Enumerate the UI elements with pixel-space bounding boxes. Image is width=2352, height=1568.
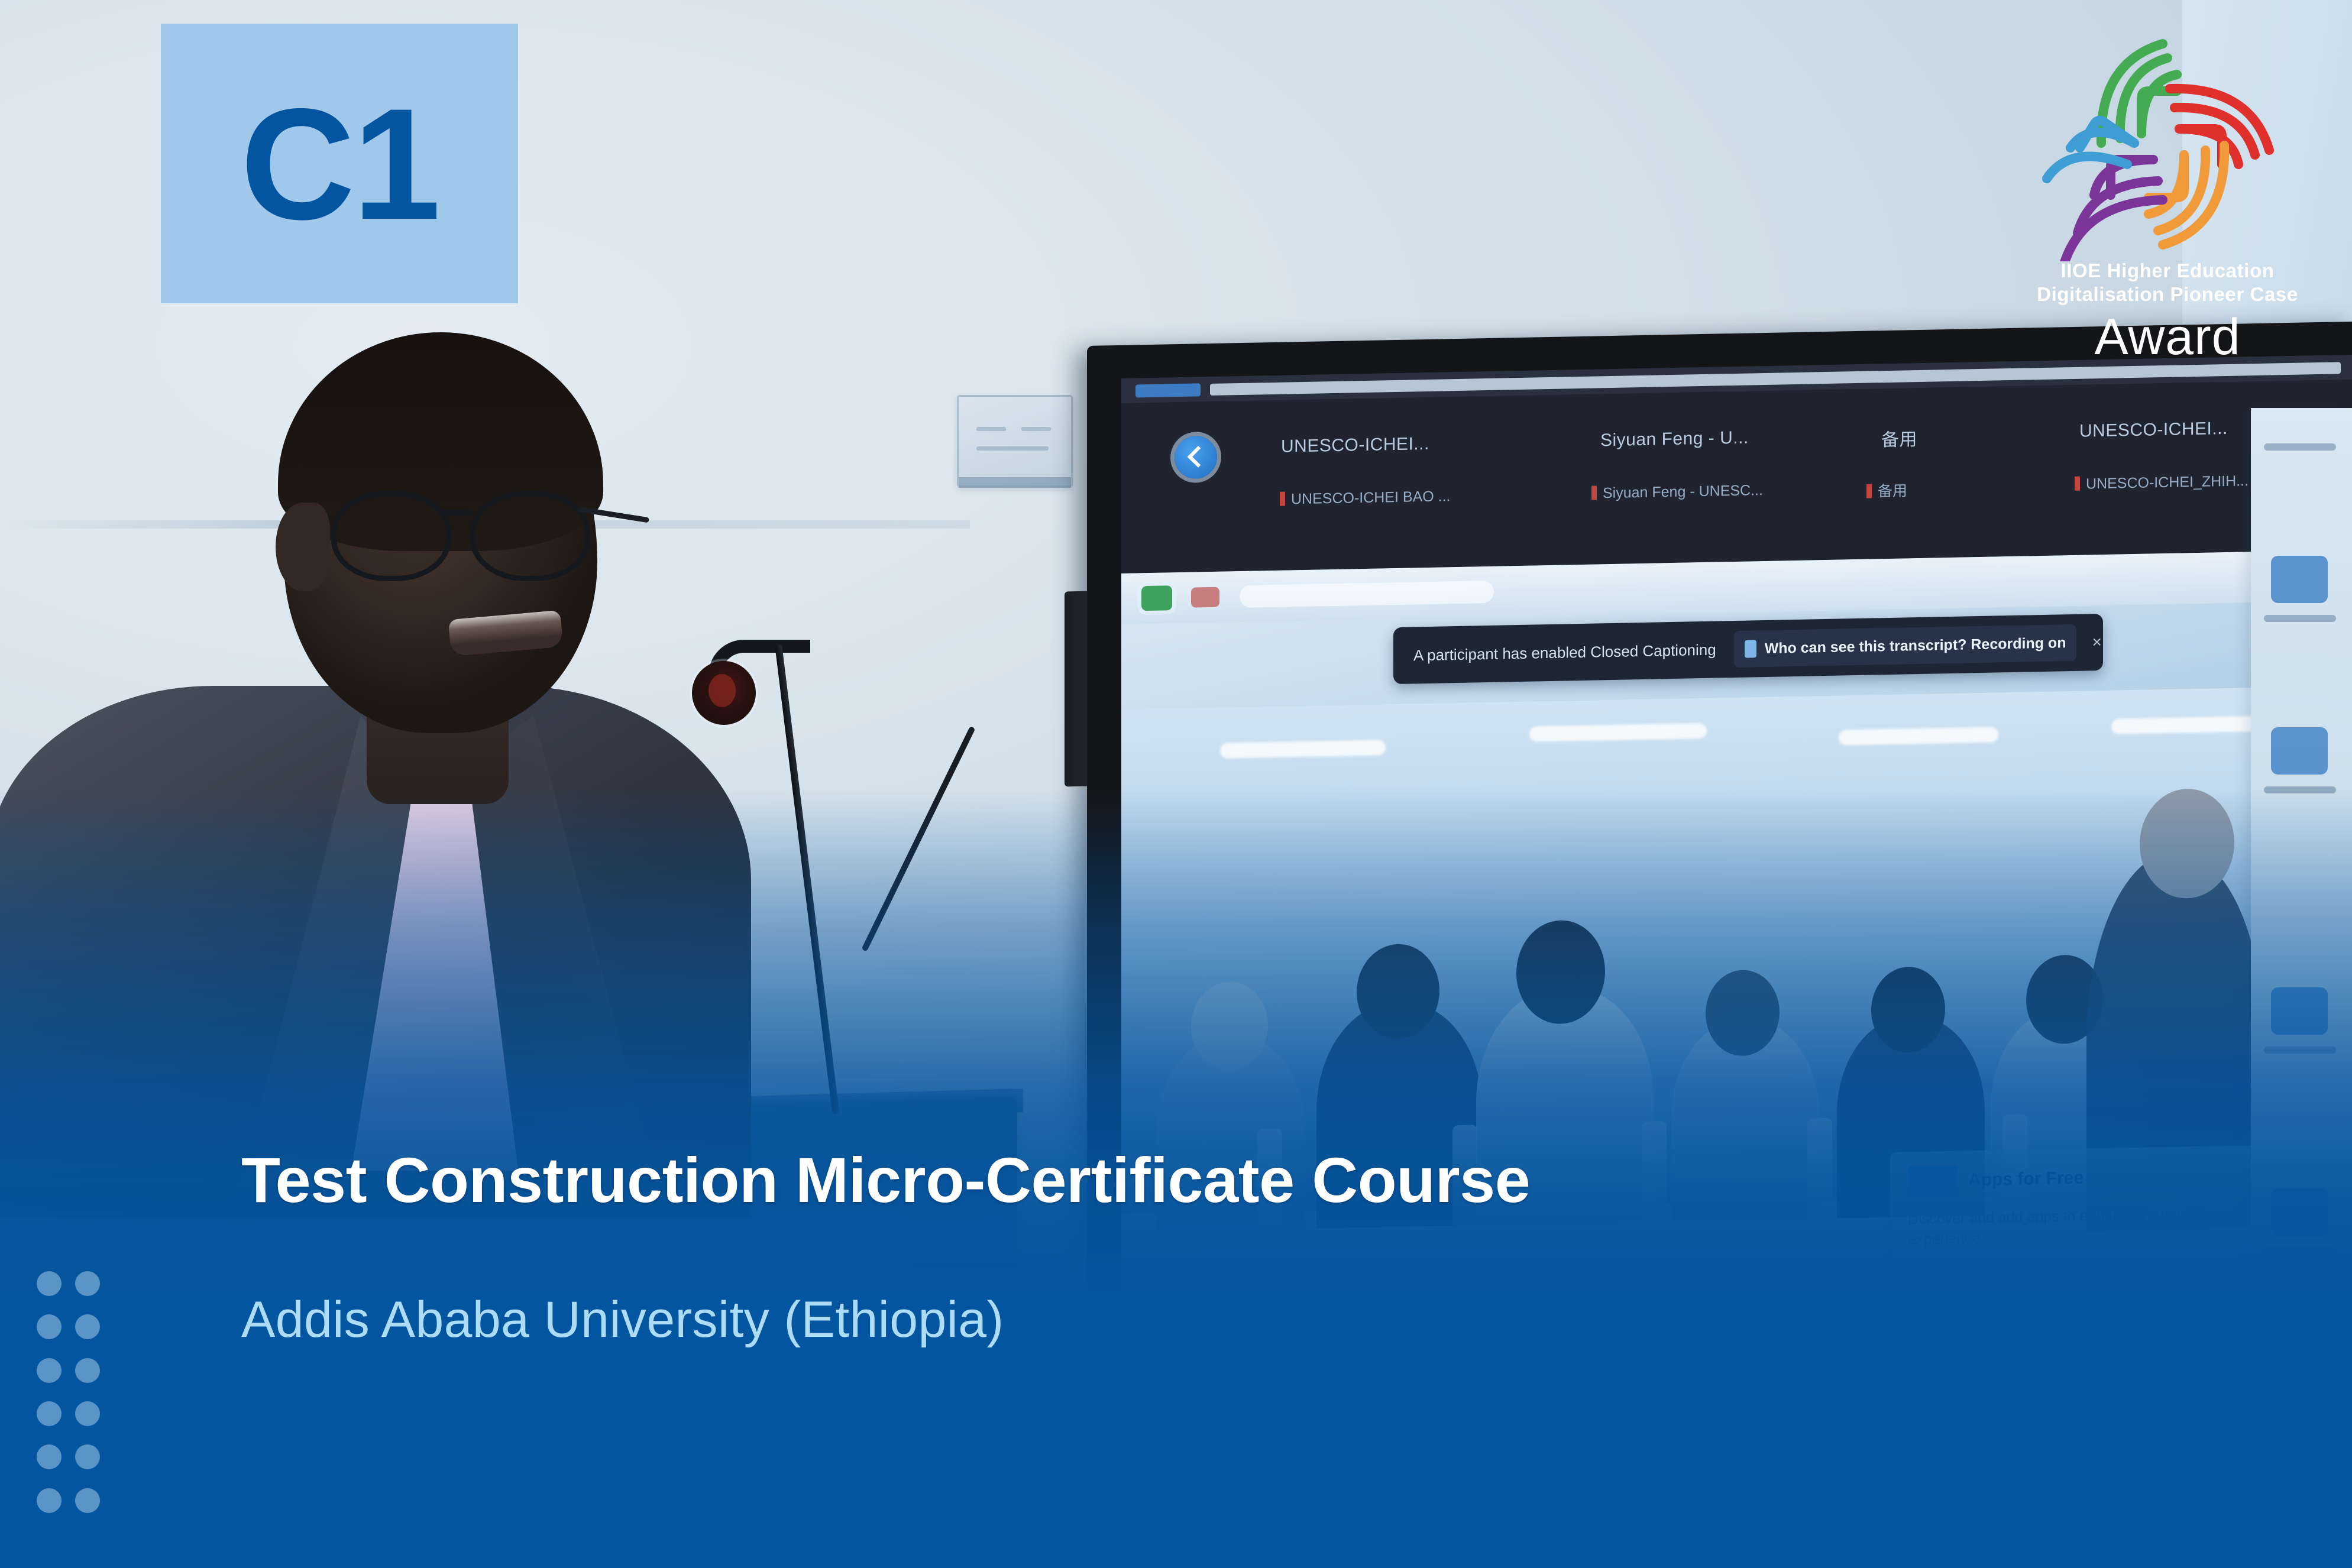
- browser-subtab-label: Siyuan Feng - UNESC...: [1603, 482, 1763, 501]
- browser-tab[interactable]: UNESCO-ICHEI...: [2079, 419, 2228, 442]
- browser-brand-pill: [1135, 383, 1201, 397]
- browser-subtab[interactable]: 备用: [1866, 479, 1907, 501]
- subtab-marker-icon: [1280, 492, 1285, 506]
- caption-banner-message: A participant has enabled Closed Caption…: [1413, 640, 1716, 665]
- browser-subtab[interactable]: UNESCO-ICHEI_ZHIH...: [2075, 472, 2249, 493]
- record-indicator-icon: [1141, 585, 1172, 611]
- award-logo: IIOE Higher Education Digitalisation Pio…: [2026, 25, 2309, 374]
- stop-indicator-icon: [1191, 587, 1219, 608]
- closed-captioning-banner: A participant has enabled Closed Caption…: [1393, 614, 2103, 684]
- transcript-chip-label: Who can see this transcript? Recording o…: [1765, 634, 2066, 657]
- subtab-marker-icon: [2075, 477, 2080, 491]
- subtab-marker-icon: [1591, 485, 1597, 500]
- browser-tab[interactable]: 备用: [1881, 425, 1917, 451]
- browser-chrome: UNESCO-ICHEI... Siyuan Feng - U... 备用 UN…: [1121, 355, 2352, 574]
- browser-subtab-label: UNESCO-ICHEI BAO ...: [1291, 488, 1450, 507]
- page-subtitle: Addis Ababa University (Ethiopia): [241, 1292, 2175, 1348]
- award-logo-line1: IIOE Higher Education: [2061, 259, 2275, 283]
- browser-subtab-label: UNESCO-ICHEI_ZHIH...: [2086, 472, 2249, 492]
- microphone-head-icon: [692, 661, 756, 725]
- browser-subtab[interactable]: UNESCO-ICHEI BAO ...: [1280, 488, 1450, 508]
- wall-control-plate: [957, 395, 1073, 487]
- award-logo-word: Award: [2094, 308, 2240, 367]
- speaker-person: [0, 307, 781, 1165]
- slide-canvas: UNESCO-ICHEI... Siyuan Feng - U... 备用 UN…: [0, 0, 2352, 1568]
- page-title: Test Construction Micro-Certificate Cour…: [241, 1145, 2175, 1216]
- decorative-dot-grid: [37, 1271, 114, 1531]
- browser-subtab[interactable]: Siyuan Feng - UNESC...: [1591, 482, 1763, 503]
- browser-tab[interactable]: Siyuan Feng - U...: [1600, 428, 1749, 451]
- back-arrow-icon[interactable]: [1175, 436, 1217, 479]
- iioe-pinwheel-icon: [2040, 25, 2295, 261]
- subtab-marker-icon: [1866, 484, 1872, 498]
- eyeglasses-icon: [331, 485, 609, 579]
- meeting-search-field[interactable]: [1240, 581, 1494, 608]
- browser-subtab-label: 备用: [1878, 482, 1907, 500]
- speaker-ear: [276, 503, 330, 591]
- slide-caption: Test Construction Micro-Certificate Cour…: [241, 1145, 2175, 1348]
- award-logo-line2: Digitalisation Pioneer Case: [2037, 283, 2298, 306]
- course-code-label: C1: [241, 85, 439, 243]
- person-icon: [1745, 640, 1756, 657]
- browser-tab[interactable]: UNESCO-ICHEI...: [1281, 434, 1429, 457]
- close-icon[interactable]: ×: [2092, 633, 2101, 652]
- transcript-chip[interactable]: Who can see this transcript? Recording o…: [1734, 624, 2077, 668]
- course-code-badge: C1: [161, 24, 518, 303]
